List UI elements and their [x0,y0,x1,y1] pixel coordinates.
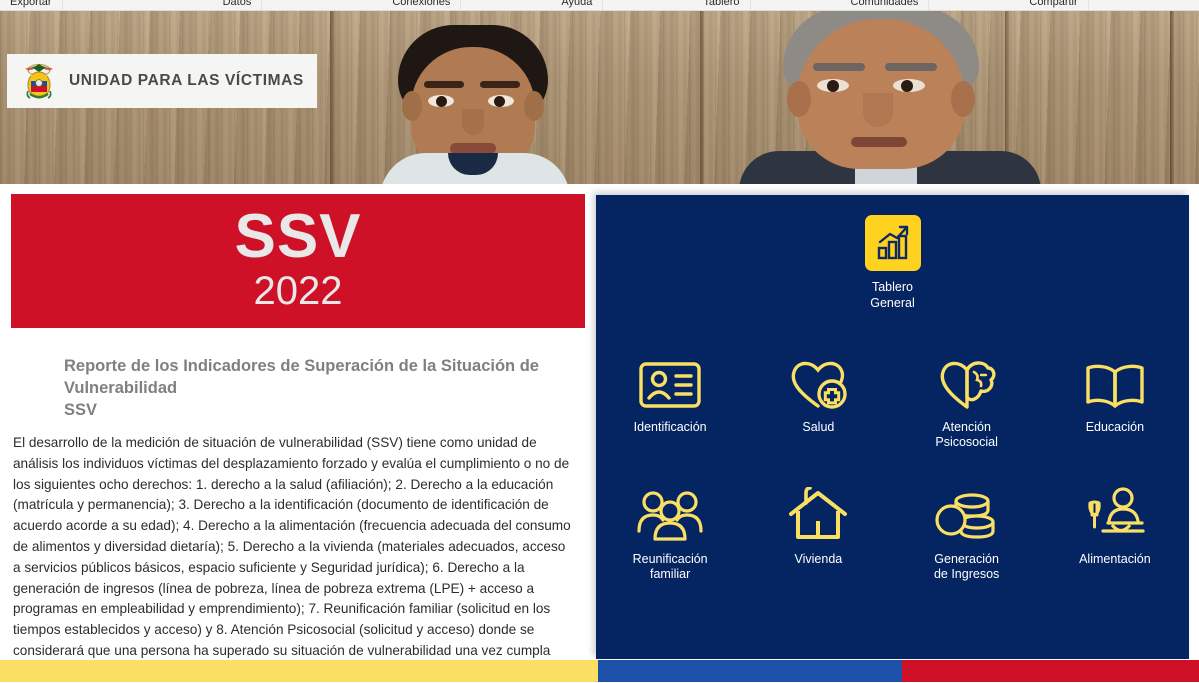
heart-plus-icon [787,349,849,411]
nav-tile-label: Educación [1086,420,1144,435]
nav-tile-label: Alimentación [1079,552,1151,567]
nav-tile-heart-brain[interactable]: AtenciónPsicosocial [893,345,1041,455]
nav-tile-person-eating[interactable]: Alimentación [1041,477,1189,587]
tile-tablero-general-label: TableroGeneral [870,280,914,311]
nav-tile-house[interactable]: Vivienda [744,477,892,587]
nav-tile-id-card[interactable]: Identificación [596,345,744,455]
flag-stripe-yellow [0,660,598,682]
nav-tile-label: Salud [802,420,834,435]
boy-figure [370,25,575,184]
house-icon [786,481,850,543]
report-title: Reporte de los Indicadores de Superación… [64,356,564,421]
toolbar-item-4[interactable]: Tablero [693,0,750,11]
report-card: SSV 2022 Reporte de los Indicadores de S… [0,184,585,659]
elderly-man-figure [745,11,1035,184]
toolbar-item-0[interactable]: Exportar [0,0,63,11]
tile-tablero-general[interactable]: TableroGeneral [596,215,1189,311]
family-group-icon [636,481,704,543]
nav-tile-coins-stack[interactable]: Generaciónde Ingresos [893,477,1041,587]
bar-chart-growth-icon [865,215,921,271]
app-toolbar[interactable]: ExportarDatosConexionesAyudaTableroComun… [0,0,1199,11]
flag-stripe-blue [598,660,902,682]
toolbar-item-1[interactable]: Datos [213,0,263,11]
nav-tile-heart-plus[interactable]: Salud [744,345,892,455]
toolbar-item-2[interactable]: Conexiones [382,0,461,11]
flag-stripe-red [902,660,1199,682]
nav-tile-grid: IdentificaciónSaludAtenciónPsicosocialEd… [596,345,1189,586]
open-book-icon [1083,349,1147,411]
toolbar-item-3[interactable]: Ayuda [551,0,603,11]
nav-tile-label: AtenciónPsicosocial [935,420,998,451]
colombia-coat-of-arms-icon [21,61,57,101]
institution-logo-plate: UNIDAD PARA LAS VÍCTIMAS [7,54,317,108]
logo-text: UNIDAD PARA LAS VÍCTIMAS [69,72,304,90]
ssv-title: SSV [234,208,361,267]
nav-tile-family-group[interactable]: Reunificaciónfamiliar [596,477,744,587]
report-body: El desarrollo de la medición de situació… [13,433,575,683]
toolbar-item-5[interactable]: Comunidades [841,0,930,11]
colombia-flag-bar [0,660,1199,682]
heart-brain-icon [936,349,998,411]
ssv-banner: SSV 2022 [11,194,585,328]
id-card-icon [638,349,702,411]
nav-tile-open-book[interactable]: Educación [1041,345,1189,455]
navigation-panel: TableroGeneral IdentificaciónSaludAtenci… [596,195,1189,659]
ssv-year: 2022 [254,268,343,314]
nav-tile-label: Generaciónde Ingresos [934,552,999,583]
coins-stack-icon [934,481,1000,543]
nav-tile-label: Vivienda [795,552,843,567]
toolbar-item-6[interactable]: Compartir [1019,0,1088,11]
person-eating-icon [1083,481,1147,543]
nav-tile-label: Identificación [634,420,707,435]
hero-photo-banner: UNIDAD PARA LAS VÍCTIMAS [0,11,1199,184]
nav-tile-label: Reunificaciónfamiliar [633,552,708,583]
